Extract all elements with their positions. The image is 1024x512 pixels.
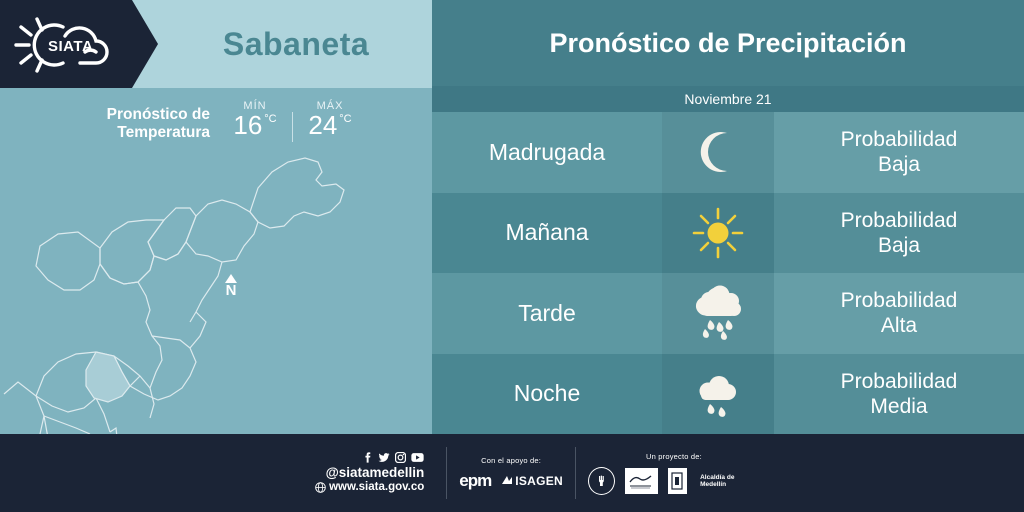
footer-inner: @siatamedellin www.siata.gov.co Con el a… xyxy=(300,434,760,512)
temperature-label: Pronóstico de Temperatura xyxy=(60,100,210,142)
right-panel: Pronóstico de Precipitación Noviembre 21… xyxy=(432,0,1024,434)
epm-logo: epm xyxy=(459,471,491,491)
alcaldia-glyph-icon xyxy=(670,470,684,492)
sun-cloud-icon: SIATA xyxy=(10,14,122,76)
youtube-icon[interactable] xyxy=(411,452,424,463)
instagram-icon[interactable] xyxy=(395,452,406,463)
row-probability-line1: Probabilidad xyxy=(841,208,958,233)
row-period: Madrugada xyxy=(432,112,662,193)
globe-icon xyxy=(315,482,326,493)
left-panel: SIATA Sabaneta Pronóstico de Temperatura… xyxy=(0,0,432,434)
support-caption: Con el apoyo de: xyxy=(481,456,541,465)
north-label: N xyxy=(226,283,237,299)
row-weather-icon xyxy=(662,112,774,193)
row-probability: Probabilidad Media xyxy=(774,354,1024,435)
website-row[interactable]: www.siata.gov.co xyxy=(315,480,424,494)
precipitation-title: Pronóstico de Precipitación xyxy=(432,0,1024,86)
rain-cloud-icon xyxy=(688,284,748,342)
siata-logo-badge: SIATA xyxy=(0,0,132,88)
precipitation-table: Madrugada Probabilidad Baja Mañana xyxy=(432,112,1024,434)
social-icons xyxy=(362,452,424,463)
temperature-label-line1: Pronóstico de xyxy=(60,106,210,124)
temperature-values: MÍN 16 °C MÁX 24 °C xyxy=(224,100,361,142)
infographic-root: SIATA Sabaneta Pronóstico de Temperatura… xyxy=(0,0,1024,512)
temperature-min-unit: °C xyxy=(264,114,276,125)
row-probability-line2: Baja xyxy=(878,152,920,177)
isagen-wordmark: ISAGEN xyxy=(515,474,563,488)
support-block: Con el apoyo de: epm ISAGEN xyxy=(459,456,563,491)
row-probability: Probabilidad Alta xyxy=(774,273,1024,354)
alcaldia-label: Alcaldía de Medellín xyxy=(700,474,760,488)
left-header: SIATA Sabaneta xyxy=(0,0,432,88)
row-period: Tarde xyxy=(432,273,662,354)
table-row: Madrugada Probabilidad Baja xyxy=(432,112,1024,193)
project-caption: Un proyecto de: xyxy=(646,452,702,461)
website-url: www.siata.gov.co xyxy=(329,480,424,494)
temperature-forecast: Pronóstico de Temperatura MÍN 16 °C MÁX … xyxy=(60,100,390,156)
moon-rain-cloud-icon xyxy=(688,365,748,423)
temperature-max-row: 24 °C xyxy=(308,112,351,138)
table-row: Mañana xyxy=(432,193,1024,274)
temperature-label-line2: Temperatura xyxy=(60,124,210,142)
row-weather-icon xyxy=(662,354,774,435)
row-probability-line1: Probabilidad xyxy=(841,369,958,394)
temperature-max-value: 24 xyxy=(308,112,337,138)
social-handle[interactable]: @siatamedellin xyxy=(326,465,425,480)
row-period: Noche xyxy=(432,354,662,435)
area-glyph-icon xyxy=(626,470,656,492)
row-probability-line2: Baja xyxy=(878,233,920,258)
row-probability-line1: Probabilidad xyxy=(841,127,958,152)
footer: @siatamedellin www.siata.gov.co Con el a… xyxy=(0,434,1024,512)
university-seal-icon xyxy=(588,467,615,495)
seal-glyph-icon xyxy=(594,473,610,489)
temperature-max-unit: °C xyxy=(339,114,351,125)
alcaldia-logo xyxy=(668,468,687,494)
forecast-date: Noviembre 21 xyxy=(432,86,1024,112)
isagen-mark-icon xyxy=(501,475,513,486)
page-title: Sabaneta xyxy=(160,0,432,88)
row-period: Mañana xyxy=(432,193,662,274)
support-logos: epm ISAGEN xyxy=(459,471,563,491)
project-block: Un proyecto de: xyxy=(588,452,760,495)
row-probability-line1: Probabilidad xyxy=(841,288,958,313)
twitter-icon[interactable] xyxy=(378,452,390,463)
temperature-min-value: 16 xyxy=(233,112,262,138)
table-row: Noche Probabilidad xyxy=(432,354,1024,435)
temperature-max: MÁX 24 °C xyxy=(299,100,361,138)
row-weather-icon xyxy=(662,273,774,354)
row-probability: Probabilidad Baja xyxy=(774,193,1024,274)
row-weather-icon xyxy=(662,193,774,274)
temperature-min: MÍN 16 °C xyxy=(224,100,286,138)
highlighted-municipality-sabaneta xyxy=(86,352,130,402)
moon-icon xyxy=(691,125,745,179)
row-probability: Probabilidad Baja xyxy=(774,112,1024,193)
temperature-min-row: 16 °C xyxy=(233,112,276,138)
valley-map: N xyxy=(0,150,432,434)
footer-divider-2 xyxy=(575,447,576,499)
logo-wordmark: SIATA xyxy=(48,38,93,55)
social-block: @siatamedellin www.siata.gov.co xyxy=(300,452,434,494)
north-arrow: N xyxy=(225,274,237,299)
facebook-icon[interactable] xyxy=(362,452,373,463)
project-logos: Alcaldía de Medellín xyxy=(588,467,760,495)
row-probability-line2: Alta xyxy=(881,313,917,338)
temperature-divider xyxy=(292,112,293,142)
map-svg xyxy=(0,150,432,434)
isagen-logo: ISAGEN xyxy=(501,474,563,488)
table-row: Tarde xyxy=(432,273,1024,354)
row-probability-line2: Media xyxy=(870,394,927,419)
area-metropolitana-logo xyxy=(625,468,658,494)
sun-icon xyxy=(690,205,746,261)
footer-divider xyxy=(446,447,447,499)
